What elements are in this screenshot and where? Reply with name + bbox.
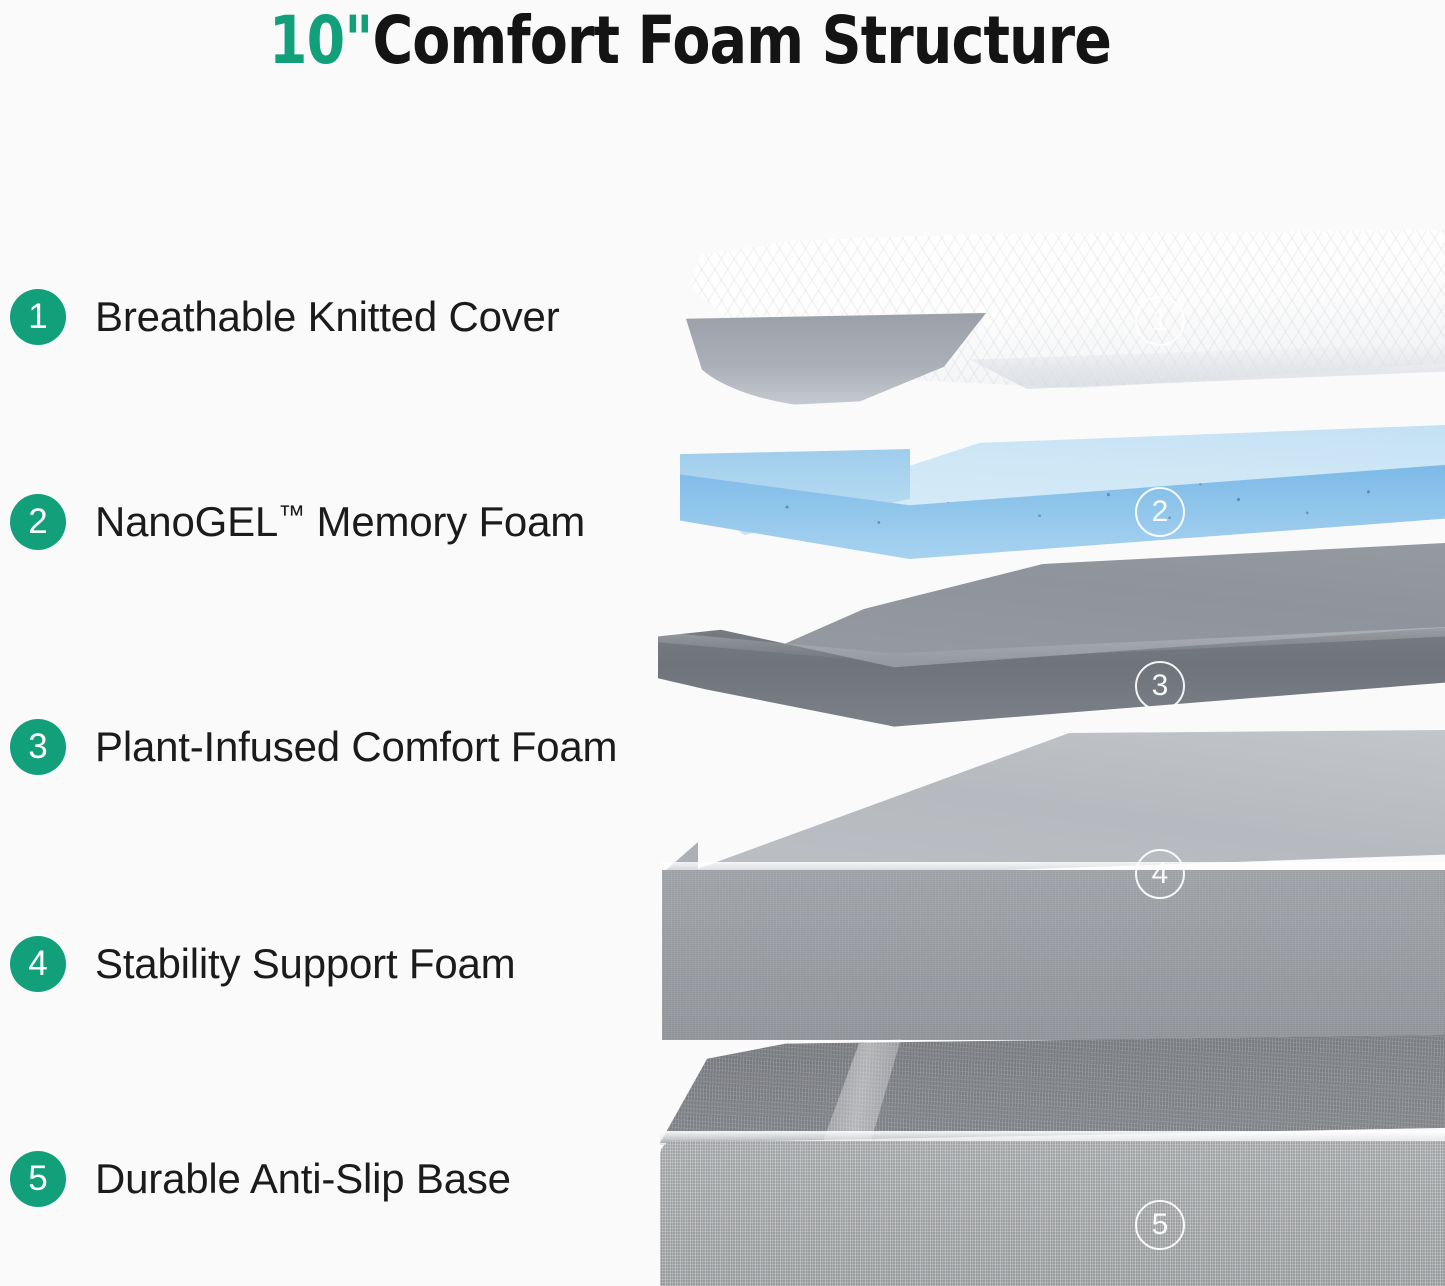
layer-marker-4: 4 <box>1135 849 1185 899</box>
layer-knitted-cover: 1 <box>640 225 1445 430</box>
legend-label-3: Plant-Infused Comfort Foam <box>95 723 617 771</box>
legend-label-1: Breathable Knitted Cover <box>95 293 559 341</box>
legend-badge-2: 2 <box>10 494 66 550</box>
mattress-layer-diagram: 1 2 3 4 5 <box>640 225 1445 1286</box>
legend-label-4: Stability Support Foam <box>95 940 515 988</box>
base-top-surface <box>660 1035 1445 1143</box>
legend-badge-5: 5 <box>10 1151 66 1207</box>
legend-label-2: NanoGEL™ Memory Foam <box>95 498 585 546</box>
cover-underside-shadow <box>686 313 986 409</box>
legend-item-2: 2 NanoGEL™ Memory Foam <box>10 492 585 552</box>
title-size: 10" <box>269 2 373 79</box>
title-text: Comfort Foam Structure <box>372 2 1111 79</box>
support-foam-top-surface <box>662 730 1445 882</box>
legend-item-5: 5 Durable Anti-Slip Base <box>10 1149 511 1209</box>
layer-stability-support-foam: 4 <box>640 730 1445 1060</box>
legend-label-2-suffix: Memory Foam <box>305 498 585 545</box>
trademark-symbol: ™ <box>278 500 305 530</box>
support-foam-front-face <box>662 870 1445 1040</box>
legend-label-5: Durable Anti-Slip Base <box>95 1155 511 1203</box>
legend-badge-4: 4 <box>10 936 66 992</box>
layer-anti-slip-base: 5 <box>640 1035 1445 1286</box>
legend-item-4: 4 Stability Support Foam <box>10 934 515 994</box>
legend-item-1: 1 Breathable Knitted Cover <box>10 287 559 347</box>
layer-marker-1: 1 <box>1135 296 1185 346</box>
layer-marker-3: 3 <box>1135 661 1185 711</box>
legend-item-3: 3 Plant-Infused Comfort Foam <box>10 717 617 777</box>
foam-structure-infographic: 10"Comfort Foam Structure 1 Breathable K… <box>0 0 1445 1286</box>
layer-marker-5: 5 <box>1135 1200 1185 1250</box>
page-title: 10"Comfort Foam Structure <box>110 2 1269 79</box>
layer-plant-infused-foam: 3 <box>640 543 1445 758</box>
legend-badge-3: 3 <box>10 719 66 775</box>
layer-marker-2: 2 <box>1135 487 1185 537</box>
legend-badge-1: 1 <box>10 289 66 345</box>
legend-label-2-main: NanoGEL <box>95 498 278 545</box>
base-fabric-front <box>660 1141 1445 1286</box>
